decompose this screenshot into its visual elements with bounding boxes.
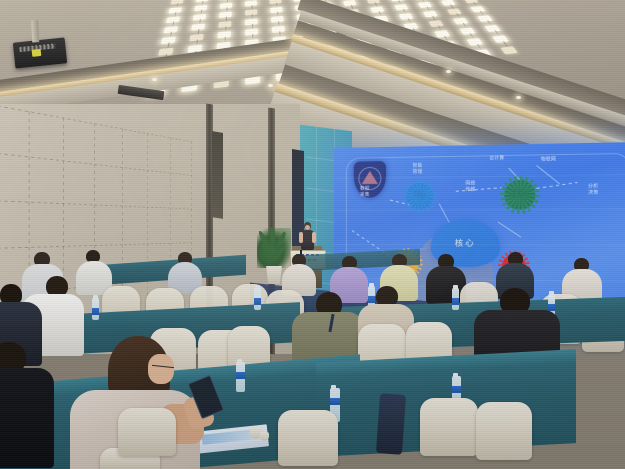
diagram-annotation: 智能 管理 <box>406 162 429 174</box>
ceiling-lamp <box>434 30 450 37</box>
ceiling-lamp <box>390 0 404 2</box>
presenter-arm <box>312 232 316 243</box>
ceiling-lamp <box>394 4 408 10</box>
banquet-chair <box>476 402 532 460</box>
ceiling-lamp <box>453 18 468 25</box>
ceiling-lamp <box>460 28 476 35</box>
diagram-node-blue-label: 平台 <box>414 193 425 199</box>
diagram-annotation: 网络 传输 <box>458 180 483 192</box>
ceiling-lamp <box>423 11 438 17</box>
diagram-annotation: 数据 采集 <box>354 186 376 198</box>
audience-area <box>0 250 625 469</box>
downlight-icon <box>268 84 273 87</box>
ceiling-lamp <box>428 20 443 27</box>
presenter-arm <box>299 232 303 243</box>
diagram-annotation: 分析 决策 <box>580 183 607 195</box>
draped-jacket <box>376 393 406 455</box>
water-bottle[interactable] <box>92 298 99 320</box>
ceiling-lamp <box>466 38 483 46</box>
conference-room-photo: 核心 平台 数据中心 应用 安全 智能 管理 云计算 物联网 数据 采集 网络 … <box>0 0 625 469</box>
banquet-chair <box>420 398 478 456</box>
downlight-icon <box>152 78 157 81</box>
presenter <box>301 222 314 250</box>
attendee-face <box>148 354 174 384</box>
banquet-chair <box>118 408 176 456</box>
ceiling-lamp <box>399 13 414 20</box>
water-bottle[interactable] <box>254 288 261 310</box>
water-bottle[interactable] <box>452 288 459 310</box>
ceiling-lamp <box>447 8 462 14</box>
ceiling-lamp <box>484 25 500 32</box>
paper-cup[interactable] <box>260 432 269 441</box>
downlight-icon <box>446 70 451 73</box>
projector-mount <box>31 20 39 42</box>
ceiling-lamp <box>477 15 493 22</box>
banquet-chair <box>278 410 338 466</box>
diagram-node-green[interactable]: 数据中心 <box>504 180 535 210</box>
diagram-annotation: 云计算 <box>485 155 508 161</box>
ceiling-lamp <box>370 6 384 12</box>
downlight-icon <box>516 96 521 99</box>
wall-recess-shadow <box>212 131 223 219</box>
diagram-node-blue[interactable]: 平台 <box>406 183 433 210</box>
ceiling-lamp <box>441 0 455 6</box>
ceiling-lamp <box>470 6 485 12</box>
ceiling-lamp <box>492 35 509 43</box>
ceiling-lamp <box>343 0 356 6</box>
ceiling-lamp <box>500 46 518 54</box>
projector-indicator-icon <box>32 49 42 57</box>
ceiling-projector <box>13 37 67 68</box>
ceiling-lamp <box>418 2 432 8</box>
diagram-node-green-label: 数据中心 <box>508 192 531 198</box>
diagram-annotation: 物联网 <box>536 156 560 162</box>
ceiling-lamp <box>464 0 479 3</box>
water-bottle[interactable] <box>236 362 245 392</box>
